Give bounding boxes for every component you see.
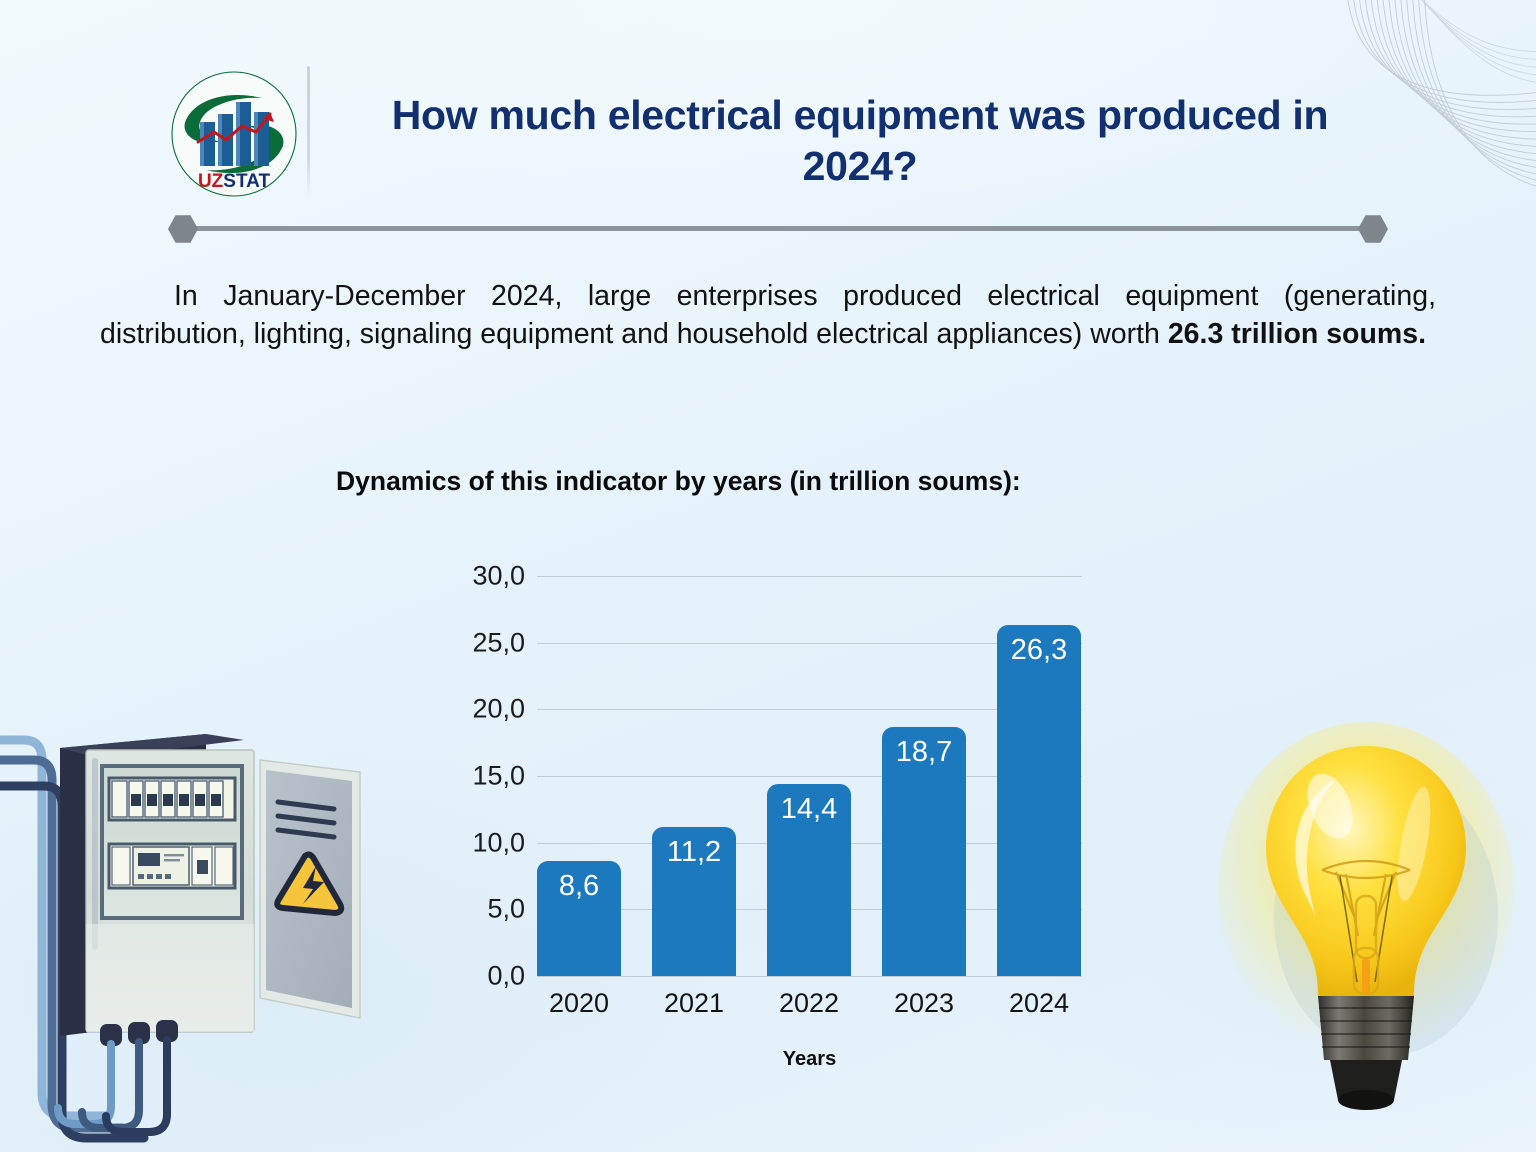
y-axis-tick: 20,0 — [472, 694, 525, 725]
divider-line — [184, 226, 1374, 231]
chart-heading: Dynamics of this indicator by years (in … — [336, 466, 1021, 497]
bar-chart: 0,0 5,0 10,0 15,0 20,0 25,0 30,0 8,6 11,… — [440, 556, 1100, 1086]
svg-text:UZSTAT: UZSTAT — [198, 171, 271, 192]
hexagon-cap-right-icon — [1358, 214, 1388, 244]
body-paragraph: In January-December 2024, large enterpri… — [100, 278, 1436, 354]
x-axis-tick-2020: 2020 — [537, 988, 621, 1019]
y-axis-tick: 0,0 — [487, 961, 525, 992]
x-axis-tick-2023: 2023 — [882, 988, 966, 1019]
bar-value-label: 8,6 — [537, 872, 621, 901]
x-axis-tick-2022: 2022 — [767, 988, 851, 1019]
bar-value-label: 14,4 — [767, 795, 851, 824]
y-axis-tick: 5,0 — [487, 894, 525, 925]
logo-text-stat: STAT — [223, 171, 270, 192]
paragraph-highlight: 26.3 trillion soums. — [1168, 318, 1426, 350]
x-axis-tick-2021: 2021 — [652, 988, 736, 1019]
bar-2020[interactable]: 8,6 — [537, 861, 621, 976]
bar-2021[interactable]: 11,2 — [652, 827, 736, 976]
uzstat-logo: UZSTAT — [170, 70, 298, 198]
logo-divider — [307, 66, 310, 198]
x-axis-title: Years — [537, 1048, 1082, 1071]
gridline — [537, 976, 1082, 977]
bar-2022[interactable]: 14,4 — [767, 784, 851, 976]
hexagon-cap-left-icon — [168, 214, 198, 244]
y-axis-tick: 30,0 — [472, 561, 525, 592]
infographic-page: UZSTAT How much electrical equipment was… — [0, 0, 1536, 1152]
y-axis-tick: 10,0 — [472, 827, 525, 858]
electrical-distribution-panel-illustration — [0, 718, 384, 1152]
y-axis-labels: 0,0 5,0 10,0 15,0 20,0 25,0 30,0 — [440, 576, 525, 976]
bar-2023[interactable]: 18,7 — [882, 727, 966, 976]
bar-2024[interactable]: 26,3 — [997, 625, 1081, 976]
section-divider — [168, 214, 1388, 244]
y-axis-tick: 25,0 — [472, 627, 525, 658]
bar-value-label: 26,3 — [997, 636, 1081, 665]
bar-value-label: 18,7 — [882, 738, 966, 767]
x-axis-tick-2024: 2024 — [997, 988, 1081, 1019]
logo-text-uz: UZ — [198, 171, 224, 192]
page-title: How much electrical equipment was produc… — [340, 90, 1380, 192]
gridline — [537, 576, 1082, 577]
y-axis-tick: 15,0 — [472, 761, 525, 792]
glowing-light-bulb-illustration — [1218, 720, 1518, 1152]
bar-value-label: 11,2 — [652, 838, 736, 867]
header: UZSTAT How much electrical equipment was… — [160, 62, 1390, 212]
plot-area: 8,6 11,2 14,4 18,7 26,3 — [537, 576, 1082, 976]
